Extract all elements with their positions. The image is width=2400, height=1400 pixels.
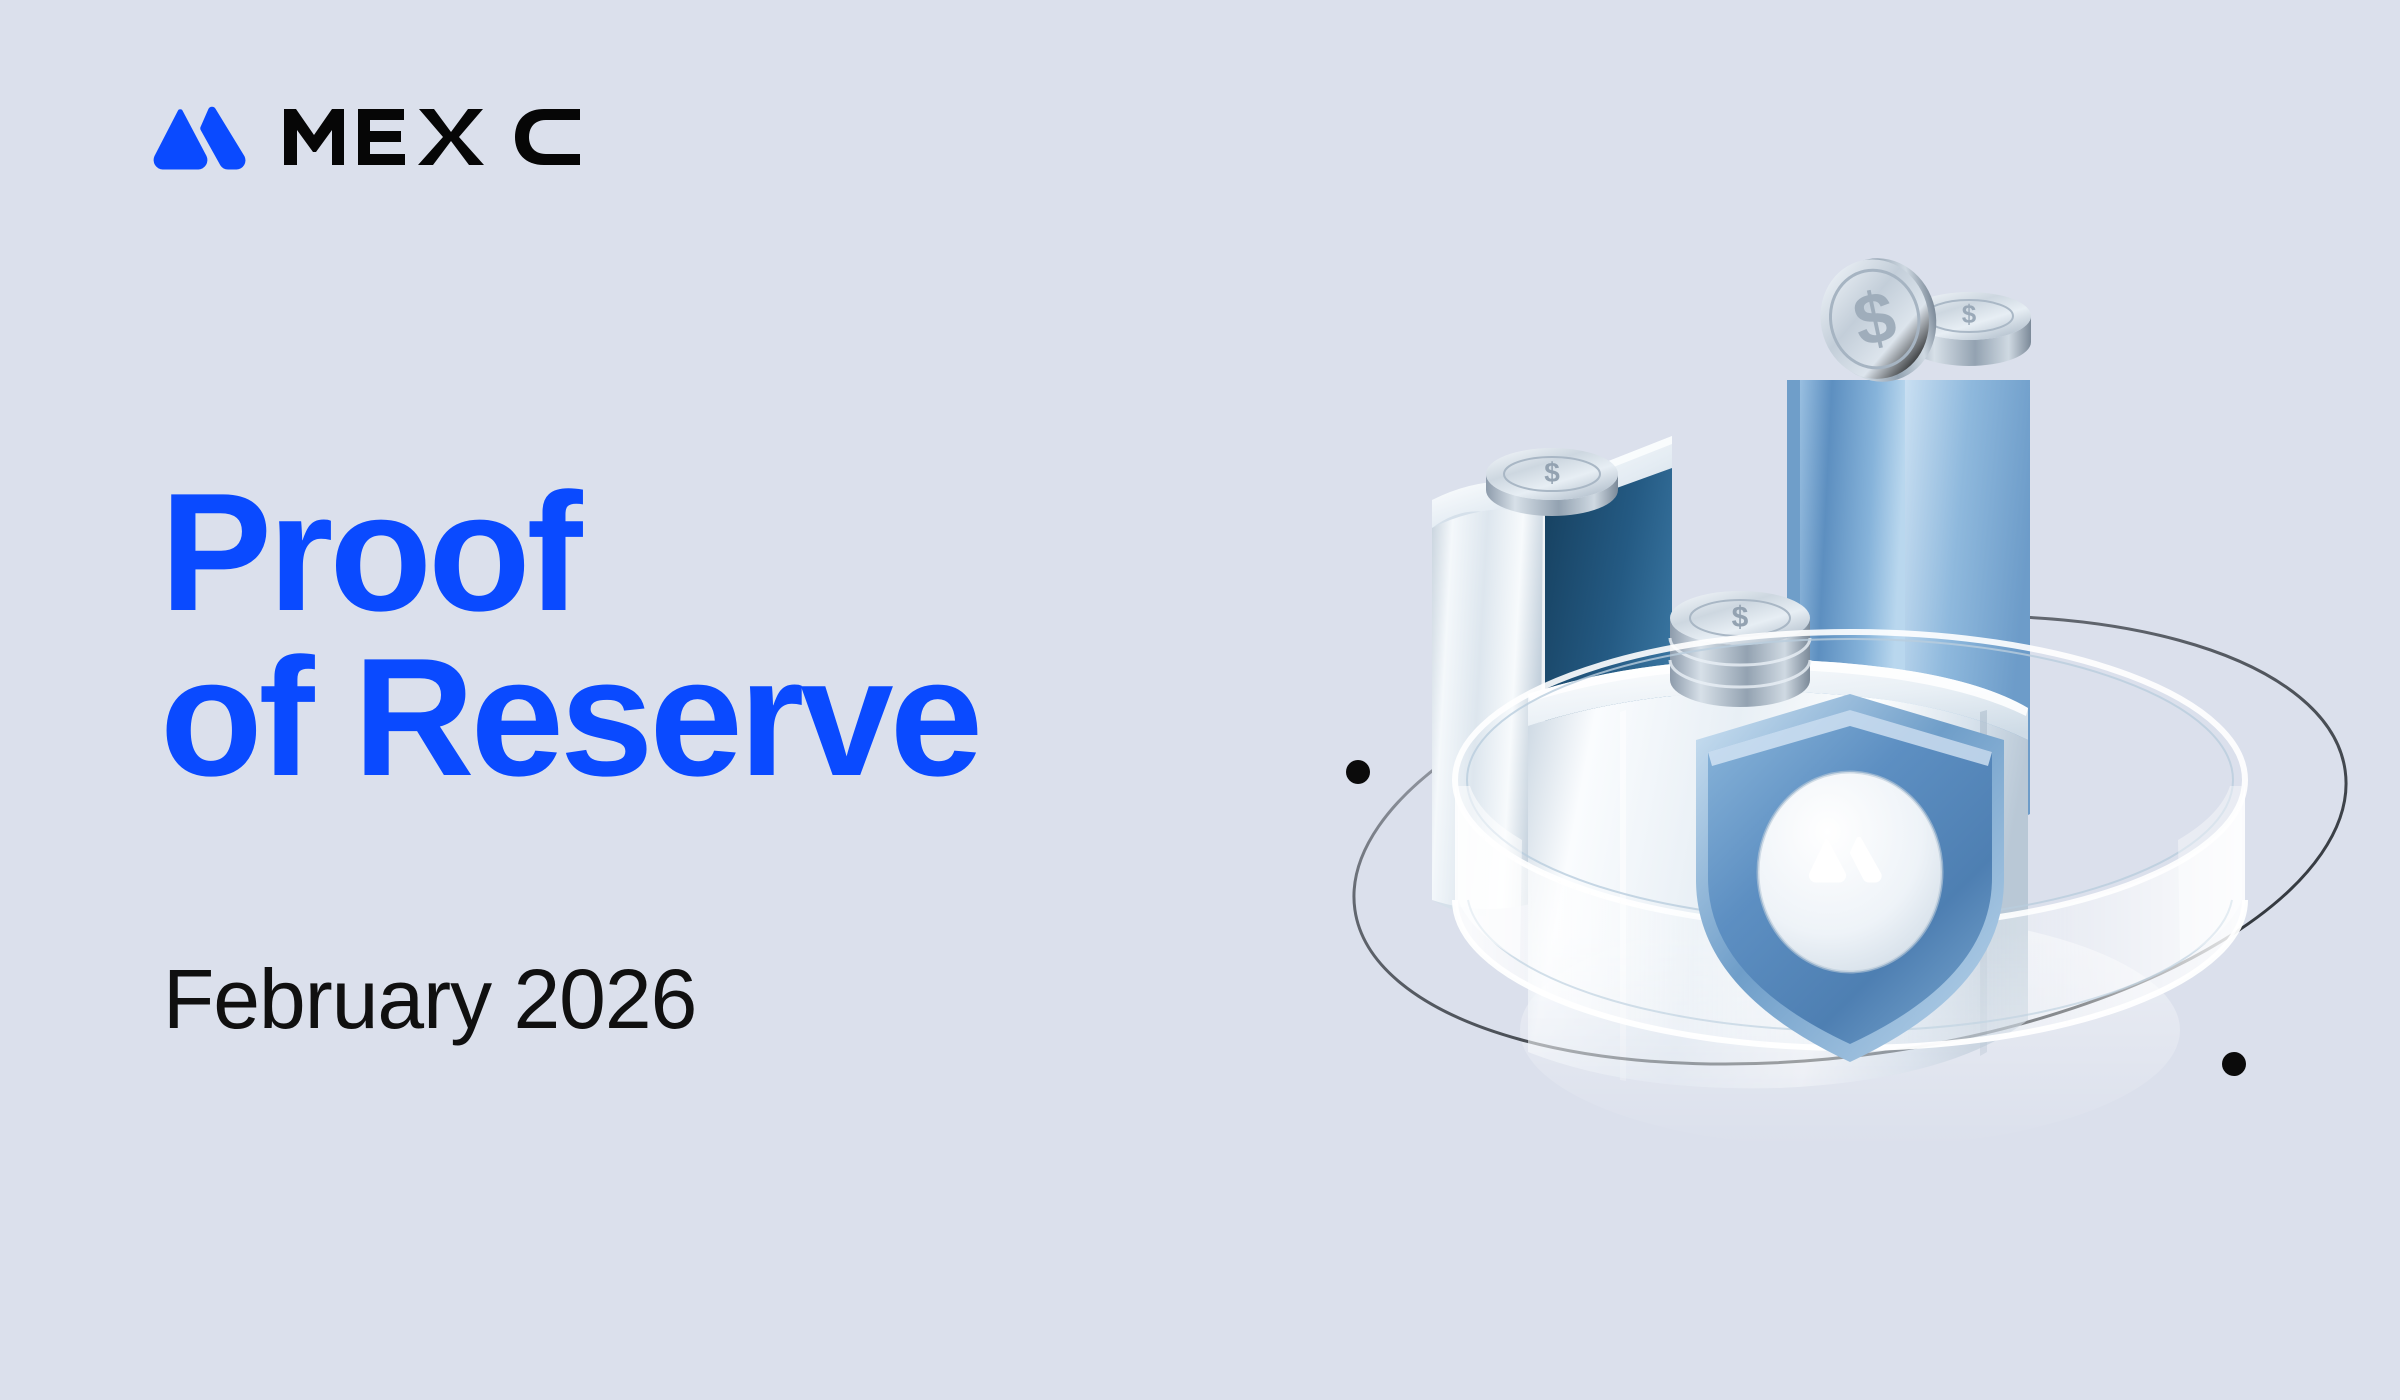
page-title-line-1: Proof xyxy=(160,470,1340,635)
orbit-dot-left xyxy=(1346,760,1370,784)
proof-of-reserve-banner: Proof of Reserve February 2026 xyxy=(0,0,2400,1400)
coin-single-on-left-bar: $ xyxy=(1486,448,1618,516)
page-title-line-2: of Reserve xyxy=(160,635,1340,800)
proof-of-reserve-illustration: $ $ $ xyxy=(1290,200,2350,1210)
coin-dollar-symbol: $ xyxy=(1544,457,1560,488)
orbit-dot-right xyxy=(2222,1052,2246,1076)
coin-dollar-symbol: $ xyxy=(1962,299,1977,329)
coin-dollar-symbol: $ xyxy=(1732,601,1749,634)
page-title: Proof of Reserve xyxy=(160,470,1340,799)
coin-stack-on-front-bar: $ xyxy=(1670,591,1810,707)
report-period-subtitle: February 2026 xyxy=(163,957,696,1041)
mexc-logo-mark-icon xyxy=(152,104,248,170)
mexc-wordmark xyxy=(282,106,582,168)
brand-lockup[interactable] xyxy=(152,104,582,170)
